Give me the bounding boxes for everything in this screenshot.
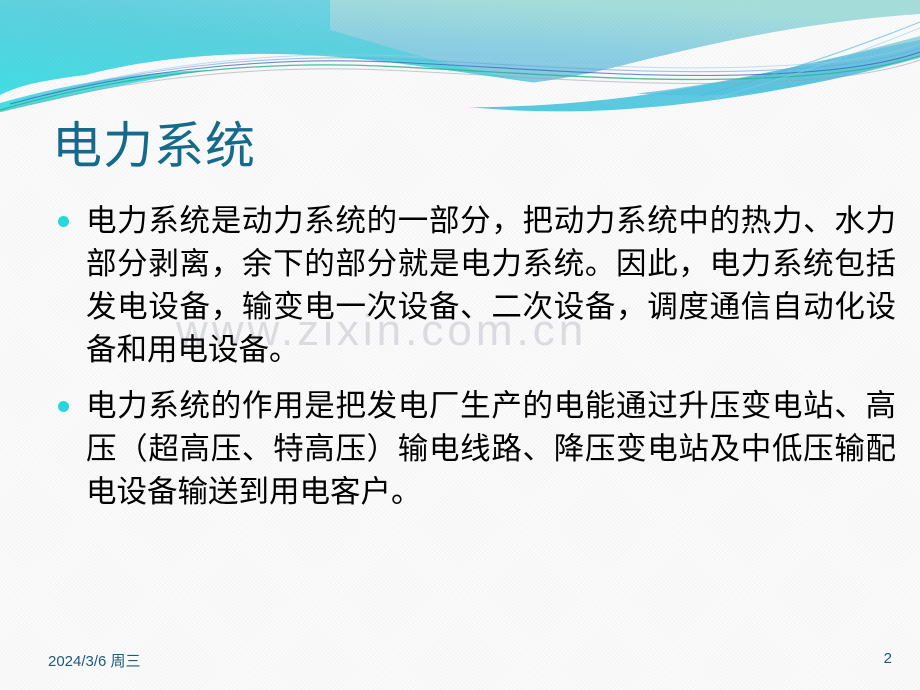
page-title: 电力系统 — [52, 118, 256, 174]
footer-date: 2024/3/6 周三 — [48, 650, 141, 671]
bullet-marker-icon — [58, 401, 69, 412]
list-item-label: 电力系统是动力系统的一部分，把动力系统中的热力、水力部分剥离，余下的部分就是电力… — [86, 200, 896, 372]
list-item: 电力系统的作用是把发电厂生产的电能通过升压变电站、高压（超高压、特高压）输电线路… — [48, 385, 896, 514]
presentation-slide: www.zixin.com.cn 电力系统 电力系统是动力系统的一部分，把动力系… — [0, 0, 920, 690]
header-decoration — [0, 0, 920, 112]
slide-page-number: 2 — [862, 650, 892, 667]
bullet-list: 电力系统是动力系统的一部分，把动力系统中的热力、水力部分剥离，余下的部分就是电力… — [48, 200, 896, 514]
list-item: 电力系统是动力系统的一部分，把动力系统中的热力、水力部分剥离，余下的部分就是电力… — [48, 200, 896, 372]
list-item-label: 电力系统的作用是把发电厂生产的电能通过升压变电站、高压（超高压、特高压）输电线路… — [86, 385, 896, 514]
bullet-marker-icon — [58, 216, 69, 227]
